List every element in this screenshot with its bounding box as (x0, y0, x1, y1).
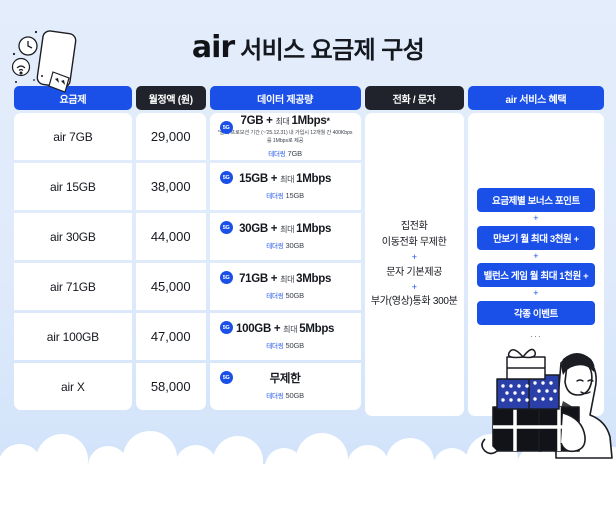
page-title-text: 서비스 요금제 구성 (240, 37, 424, 64)
5g-badge-icon: 5G (220, 371, 233, 384)
table-row: air 7GB (14, 113, 132, 160)
plan-name: air 30GB (50, 230, 96, 244)
column-header-data: 데이터 제공량 (210, 86, 361, 110)
tethering-info: 테더링 50GB (266, 340, 304, 350)
plus-separator: + (477, 212, 595, 226)
5g-badge-icon: 5G (220, 321, 233, 334)
column-header-price: 월정액 (원) (136, 86, 206, 110)
page-title: air서비스 요금제 구성 (0, 30, 616, 65)
plan-name: air X (61, 380, 85, 394)
tethering-info: 테더링 50GB (266, 290, 304, 300)
data-cell: 5G 7GB + 최대 1Mbps* *출시 프로모션 기간 (~'25.12.… (210, 113, 361, 160)
price-cell: 29,000 (136, 113, 206, 160)
price-value: 44,000 (151, 229, 191, 244)
5g-badge-icon: 5G (220, 171, 233, 184)
table-row: air 100GB (14, 313, 132, 360)
5g-badge-icon: 5G (220, 221, 233, 234)
plan-name: air 100GB (47, 330, 99, 344)
data-cell: 5G 30GB + 최대 1Mbps 테더링 30GB (210, 213, 361, 260)
data-footnote: *출시 프로모션 기간 (~'25.12.31) 내 가입시 12개월 간 40… (216, 130, 355, 145)
benefit-chip-balance-game[interactable]: 밸런스 게임 월 최대 1천원 + (477, 263, 595, 287)
benefit-chip-events[interactable]: 각종 이벤트 (477, 301, 595, 325)
plus-separator: + (412, 280, 417, 294)
data-allowance-column: 5G 7GB + 최대 1Mbps* *출시 프로모션 기간 (~'25.12.… (210, 113, 361, 416)
plan-name: air 7GB (53, 130, 92, 144)
benefit-chip-bonus-point[interactable]: 요금제별 보너스 포인트 (477, 188, 595, 212)
5g-badge-icon: 5G (220, 271, 233, 284)
data-allowance: 무제한 (270, 373, 301, 387)
price-cell: 45,000 (136, 263, 206, 310)
voice-column: 집전화 이동전화 무제한 + 문자 기본제공 + 부가(영상)통화 300분 (365, 113, 464, 416)
table-header-row: 요금제 월정액 (원) 데이터 제공량 전화 / 문자 air 서비스 혜택 (14, 86, 604, 110)
air-logo: air (192, 30, 234, 65)
data-allowance: 7GB + 최대 1Mbps* (241, 115, 330, 129)
price-value: 38,000 (151, 179, 191, 194)
data-allowance: 30GB + 최대 1Mbps (239, 223, 331, 237)
price-value: 45,000 (151, 279, 191, 294)
price-value: 58,000 (151, 379, 191, 394)
data-cell: 5G 무제한 테더링 50GB (210, 363, 361, 410)
tethering-info: 테더링 7GB (268, 148, 302, 158)
price-column: 29,000 38,000 44,000 45,000 47,000 58,00… (136, 113, 206, 416)
plus-separator: + (477, 250, 595, 264)
tethering-info: 테더링 30GB (266, 240, 304, 250)
voice-line-1: 집전화 (401, 219, 428, 235)
column-header-voice: 전화 / 문자 (365, 86, 464, 110)
voice-line-3: 문자 기본제공 (386, 265, 442, 281)
table-row: air 71GB (14, 263, 132, 310)
table-row: air 30GB (14, 213, 132, 260)
plan-name: air 15GB (50, 180, 96, 194)
voice-line-2: 이동전화 무제한 (382, 235, 447, 251)
price-value: 29,000 (151, 129, 191, 144)
price-cell: 44,000 (136, 213, 206, 260)
tethering-info: 테더링 15GB (266, 190, 304, 200)
plan-name-column: air 7GB air 15GB air 30GB air 71GB air 1… (14, 113, 132, 416)
person-with-gifts-illustration (451, 335, 616, 460)
plan-name: air 71GB (50, 280, 96, 294)
data-cell: 5G 15GB + 최대 1Mbps 테더링 15GB (210, 163, 361, 210)
plus-separator: + (477, 287, 595, 301)
data-allowance: 15GB + 최대 1Mbps (239, 173, 331, 187)
data-allowance: 100GB + 최대 5Mbps (236, 323, 334, 337)
price-value: 47,000 (151, 329, 191, 344)
voice-sms-cell: 집전화 이동전화 무제한 + 문자 기본제공 + 부가(영상)통화 300분 (365, 113, 464, 416)
5g-badge-icon: 5G (220, 121, 233, 134)
column-header-bonus: air 서비스 혜택 (468, 86, 604, 110)
plus-separator: + (412, 250, 417, 264)
data-cell: 5G 71GB + 최대 3Mbps 테더링 50GB (210, 263, 361, 310)
data-allowance: 71GB + 최대 3Mbps (239, 273, 331, 287)
voice-line-4: 부가(영상)통화 300분 (371, 294, 458, 310)
data-cell: 5G 100GB + 최대 5Mbps 테더링 50GB (210, 313, 361, 360)
table-row: air 15GB (14, 163, 132, 210)
price-cell: 47,000 (136, 313, 206, 360)
price-cell: 38,000 (136, 163, 206, 210)
benefit-chip-pedometer[interactable]: 만보기 월 최대 3천원 + (477, 226, 595, 250)
price-cell: 58,000 (136, 363, 206, 410)
table-row: air X (14, 363, 132, 410)
tethering-info: 테더링 50GB (266, 390, 304, 400)
